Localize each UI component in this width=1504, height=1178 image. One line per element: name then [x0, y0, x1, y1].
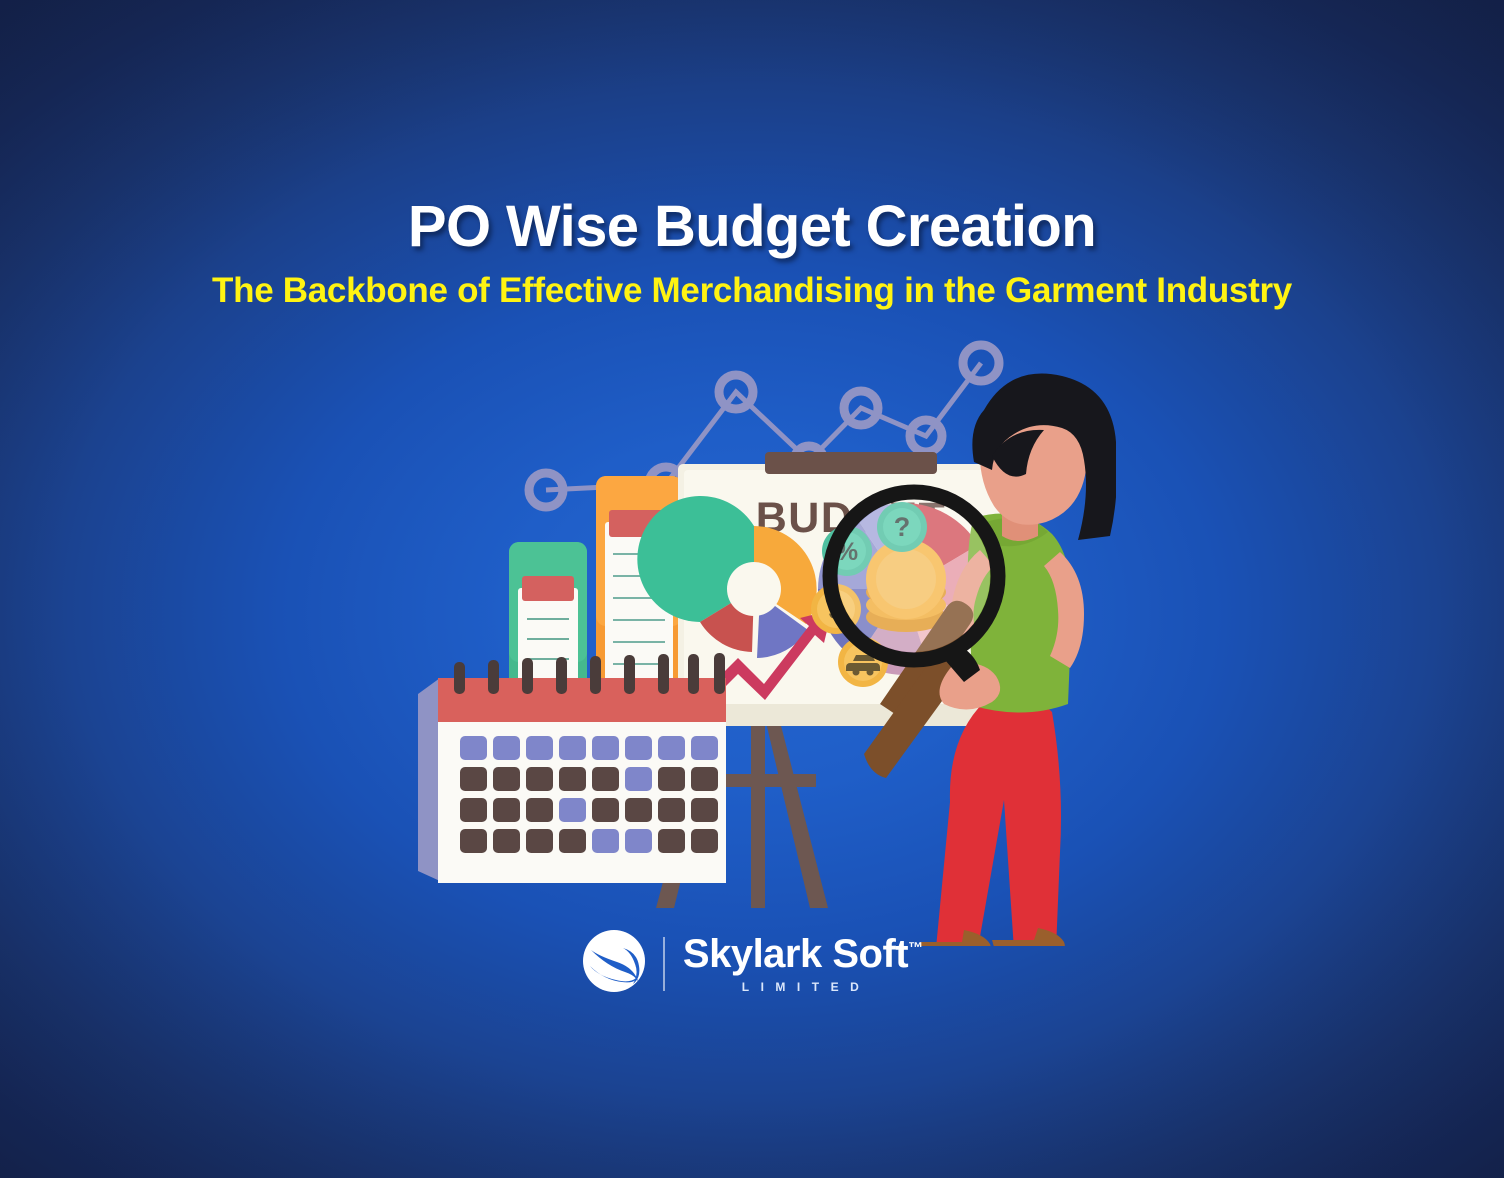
logo-name-text: Skylark Soft: [683, 932, 908, 976]
logo-divider: [663, 937, 665, 991]
page-title: PO Wise Budget Creation: [0, 196, 1504, 259]
logo-subtitle: LIMITED: [683, 981, 923, 993]
brand-logo: Skylark Soft™ LIMITED: [0, 928, 1504, 999]
skylark-logo-icon: [581, 928, 647, 999]
page-subtitle: The Backbone of Effective Merchandising …: [0, 271, 1504, 311]
poster-canvas: PO Wise Budget Creation The Backbone of …: [0, 0, 1504, 1178]
calendar: [418, 653, 726, 883]
logo-name: Skylark Soft™: [683, 934, 923, 974]
trademark-icon: ™: [908, 940, 923, 957]
heading-block: PO Wise Budget Creation The Backbone of …: [0, 196, 1504, 311]
budget-analysis-illustration: BUDGET: [396, 336, 1116, 946]
